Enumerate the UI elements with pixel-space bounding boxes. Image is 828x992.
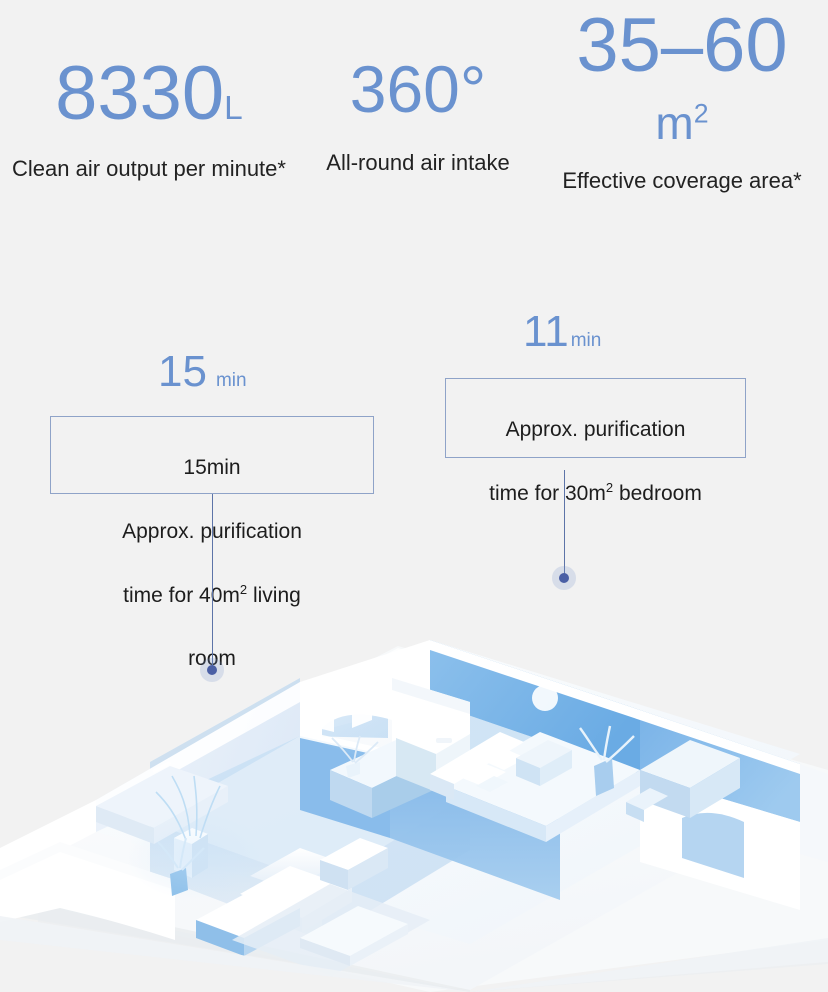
- callout-number-bedroom: 11min: [523, 310, 601, 354]
- callout-number-value-living-room: 15: [158, 347, 207, 396]
- callout-number-living-room: 15min: [158, 350, 247, 394]
- wall-lamp-icon: [532, 685, 558, 711]
- stat-label-clean-air-output: Clean air output per minute*: [0, 154, 298, 183]
- stats-row: 8330L Clean air output per minute* 360° …: [0, 0, 828, 285]
- callout-number-unit-living-room: min: [216, 370, 247, 391]
- stat-label-effective-coverage: Effective coverage area*: [536, 166, 828, 195]
- stat-unit-liters: L: [224, 90, 243, 127]
- callout-bedroom-line1: Approx. purification: [443, 414, 748, 446]
- stat-number-all-round-intake: 360: [350, 52, 460, 126]
- stat-unit-meter: m: [655, 97, 693, 149]
- isometric-apartment-illustration: [0, 470, 828, 992]
- stat-clean-air-output: 8330L Clean air output per minute*: [0, 56, 298, 183]
- stat-all-round-intake: 360° All-round air intake: [300, 56, 536, 177]
- callout-number-unit-bedroom: min: [571, 330, 602, 351]
- stat-unit-degrees: °: [460, 52, 486, 126]
- stat-unit-squared: 2: [694, 99, 709, 129]
- stat-effective-coverage: 35–60 m2 Effective coverage area*: [536, 8, 828, 195]
- callout-number-value-bedroom: 11: [523, 307, 569, 356]
- stat-number-clean-air-output: 8330: [55, 51, 224, 136]
- stat-label-all-round-intake: All-round air intake: [300, 148, 536, 177]
- stat-value-clean-air-output: 8330L: [0, 56, 298, 132]
- stat-value-all-round-intake: 360°: [300, 56, 536, 122]
- stat-number-effective-coverage: 35–60: [536, 8, 828, 84]
- infographic-page: 8330L Clean air output per minute* 360° …: [0, 0, 828, 992]
- stat-unit-square-meters: m2: [536, 100, 828, 146]
